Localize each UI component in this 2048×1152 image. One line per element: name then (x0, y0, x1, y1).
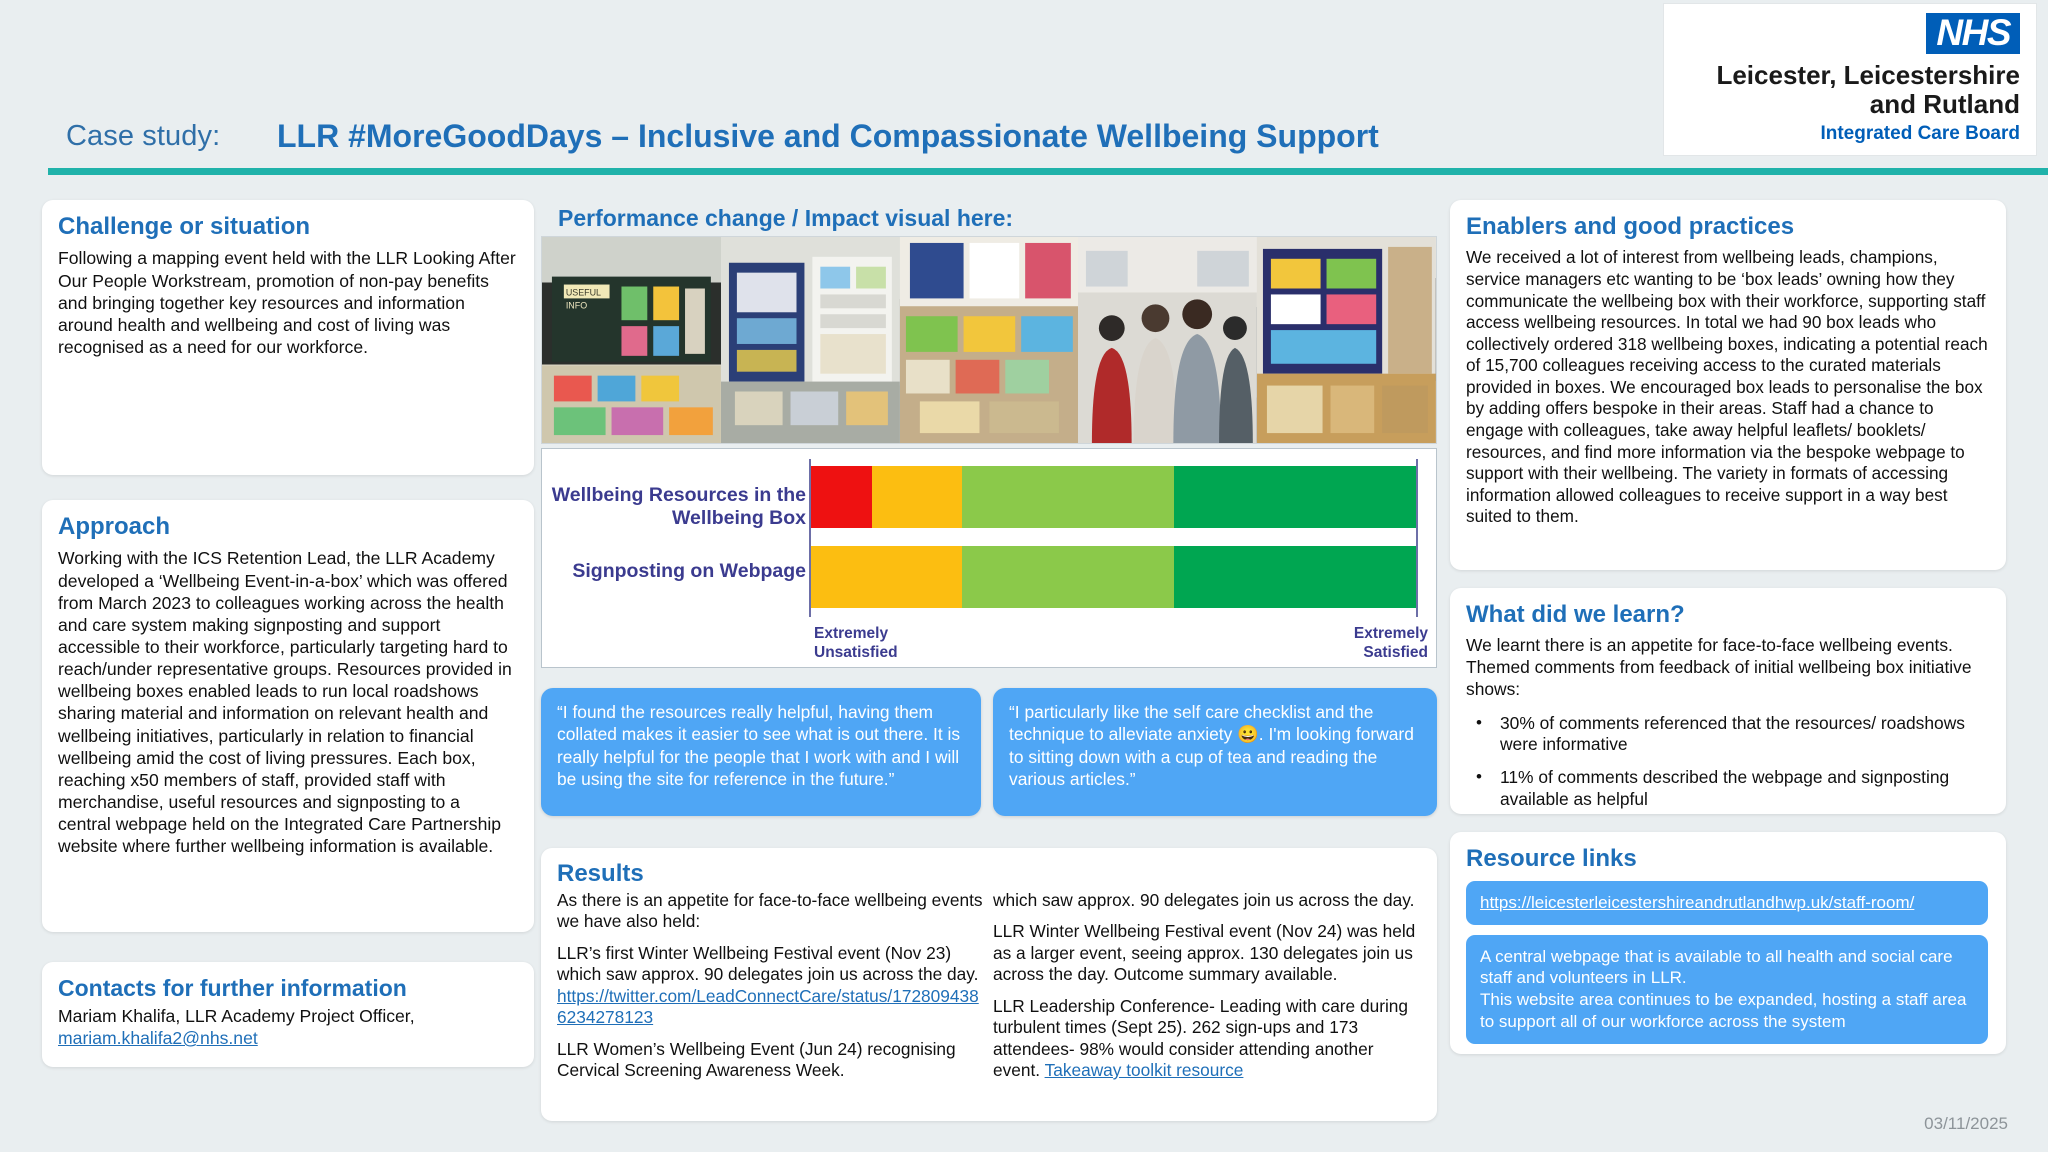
chart-bar-row-1 (811, 546, 1416, 608)
wellbeing-poster-boards-photo (721, 237, 900, 443)
resource-links-card: Resource links https://leicesterleiceste… (1450, 832, 2006, 1054)
contacts-heading: Contacts for further information (58, 976, 516, 1001)
chart-axis-right (1416, 459, 1418, 617)
results-intro: As there is an appetite for face-to-face… (557, 890, 987, 933)
title-underline-rule (48, 168, 2048, 175)
chart-segment (1174, 466, 1416, 528)
contact-email-link[interactable]: mariam.khalifa2@nhs.net (58, 1028, 258, 1048)
nhs-org-name: Leicester, Leicestershire and Rutland (1716, 61, 2020, 119)
results-item-4: LLR Leadership Conference- Leading with … (993, 996, 1423, 1082)
case-study-label: Case study: (66, 120, 220, 153)
slide-canvas: Case study: LLR #MoreGoodDays – Inclusiv… (0, 0, 2048, 1152)
results-item-3: LLR Winter Wellbeing Festival event (Nov… (993, 921, 1423, 985)
delegates-at-stand-photo (1078, 237, 1257, 443)
footer-date: 03/11/2025 (1924, 1114, 2008, 1134)
chart-segment (811, 546, 962, 608)
challenge-card: Challenge or situation Following a mappi… (42, 200, 534, 475)
enablers-heading: Enablers and good practices (1466, 214, 1988, 240)
chart-category-label-1: Signposting on Webpage (546, 560, 806, 583)
approach-card: Approach Working with the ICS Retention … (42, 500, 534, 932)
results-card: Results As there is an appetite for face… (541, 848, 1437, 1121)
chart-segment (1174, 546, 1416, 608)
photo-collage: USEFUL INFO (541, 236, 1437, 444)
contacts-card: Contacts for further information Mariam … (42, 962, 534, 1067)
resource-links-heading: Resource links (1466, 846, 1988, 872)
learn-body: We learnt there is an appetite for face-… (1466, 635, 1988, 700)
satisfaction-stacked-bar-chart: Wellbeing Resources in the Wellbeing Box… (541, 448, 1437, 668)
twitter-status-link[interactable]: https://twitter.com/LeadConnectCare/stat… (557, 986, 979, 1027)
approach-heading: Approach (58, 514, 516, 540)
learn-heading: What did we learn? (1466, 602, 1988, 628)
results-continuation: which saw approx. 90 delegates join us a… (993, 890, 1423, 911)
chart-segment (962, 466, 1174, 528)
noticeboard-useful-info-photo: USEFUL INFO (542, 237, 721, 443)
staff-room-webpage-link[interactable]: https://leicesterleicestershireandrutlan… (1466, 881, 1988, 924)
page-title: LLR #MoreGoodDays – Inclusive and Compas… (277, 118, 1379, 155)
chart-axis-label-satisfied: Extremely Satisfied (1354, 625, 1428, 662)
results-heading: Results (557, 860, 1423, 888)
svg-text:INFO: INFO (566, 300, 587, 310)
svg-text:USEFUL: USEFUL (566, 287, 601, 297)
challenge-body: Following a mapping event held with the … (58, 247, 516, 358)
slide-header: Case study: LLR #MoreGoodDays – Inclusiv… (0, 0, 2048, 178)
chart-category-label-0: Wellbeing Resources in the Wellbeing Box (546, 484, 806, 529)
results-column-right: which saw approx. 90 delegates join us a… (993, 890, 1423, 1082)
impact-visual-heading: Performance change / Impact visual here: (558, 205, 1013, 232)
testimonial-quote-2: “I particularly like the self care check… (993, 688, 1437, 816)
results-item-1: LLR’s first Winter Wellbeing Festival ev… (557, 943, 987, 986)
chart-bar-row-0 (811, 466, 1416, 528)
learn-bullet-item: 11% of comments described the webpage an… (1470, 767, 1988, 811)
chart-segment (872, 466, 963, 528)
results-item-2: LLR Women’s Wellbeing Event (Jun 24) rec… (557, 1039, 987, 1082)
learn-bullet-item: 30% of comments referenced that the reso… (1470, 713, 1988, 757)
what-did-we-learn-card: What did we learn? We learnt there is an… (1450, 588, 2006, 814)
contact-person: Mariam Khalifa, LLR Academy Project Offi… (58, 1005, 516, 1028)
enablers-card: Enablers and good practices We received … (1450, 200, 2006, 570)
chart-axis-label-unsatisfied: Extremely Unsatisfied (814, 625, 898, 662)
testimonial-quote-1: “I found the resources really helpful, h… (541, 688, 981, 816)
challenge-heading: Challenge or situation (58, 214, 516, 240)
chart-segment (811, 466, 872, 528)
wellbeing-display-stand-photo (1257, 237, 1436, 443)
nhs-logo: NHS Leicester, Leicestershire and Rutlan… (1663, 3, 2037, 156)
chart-segment (962, 546, 1174, 608)
resources-table-photo (900, 237, 1079, 443)
results-column-left: As there is an appetite for face-to-face… (557, 890, 987, 1082)
nhs-wordmark-icon: NHS (1926, 13, 2020, 54)
takeaway-toolkit-link[interactable]: Takeaway toolkit resource (1045, 1060, 1244, 1080)
approach-body: Working with the ICS Retention Lead, the… (58, 547, 516, 857)
enablers-body: We received a lot of interest from wellb… (1466, 247, 1988, 528)
nhs-org-subtitle: Integrated Care Board (1820, 123, 2020, 145)
learn-bullet-list: 30% of comments referenced that the reso… (1470, 713, 1988, 811)
resource-links-note: A central webpage that is available to a… (1466, 935, 1988, 1044)
